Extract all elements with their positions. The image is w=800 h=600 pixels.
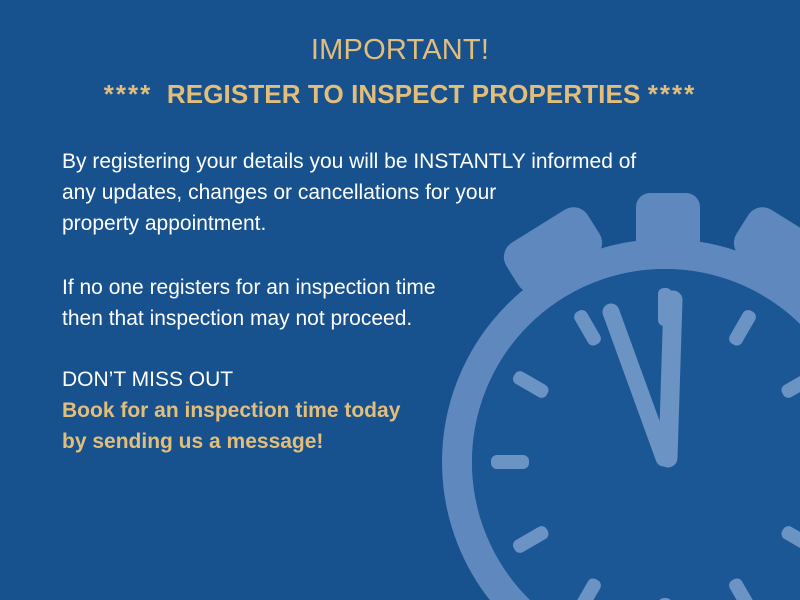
- paragraph-registering-details: By registering your details you will be …: [62, 146, 636, 239]
- cta-book-inspection: Book for an inspection time today: [62, 395, 400, 426]
- call-to-action-block: DON’T MISS OUT Book for an inspection ti…: [62, 364, 400, 457]
- paragraph-line: If no one registers for an inspection ti…: [62, 272, 436, 303]
- cta-dont-miss-out: DON’T MISS OUT: [62, 364, 400, 395]
- paragraph-line: then that inspection may not proceed.: [62, 303, 436, 334]
- heading-block: IMPORTANT! **** REGISTER TO INSPECT PROP…: [0, 30, 800, 114]
- paragraph-line: any updates, changes or cancellations fo…: [62, 177, 636, 208]
- stars-trailing: ****: [648, 79, 696, 109]
- page-title: IMPORTANT!: [0, 30, 800, 70]
- promotional-slide: IMPORTANT! **** REGISTER TO INSPECT PROP…: [0, 0, 800, 600]
- subtitle: **** REGISTER TO INSPECT PROPERTIES ****: [0, 74, 800, 114]
- paragraph-line: property appointment.: [62, 208, 636, 239]
- cta-send-message: by sending us a message!: [62, 426, 400, 457]
- slide-text-content: IMPORTANT! **** REGISTER TO INSPECT PROP…: [0, 0, 800, 600]
- paragraph-no-registration-warning: If no one registers for an inspection ti…: [62, 272, 436, 334]
- stars-leading: ****: [104, 79, 152, 109]
- subtitle-text: REGISTER TO INSPECT PROPERTIES: [167, 79, 641, 109]
- paragraph-line: By registering your details you will be …: [62, 146, 636, 177]
